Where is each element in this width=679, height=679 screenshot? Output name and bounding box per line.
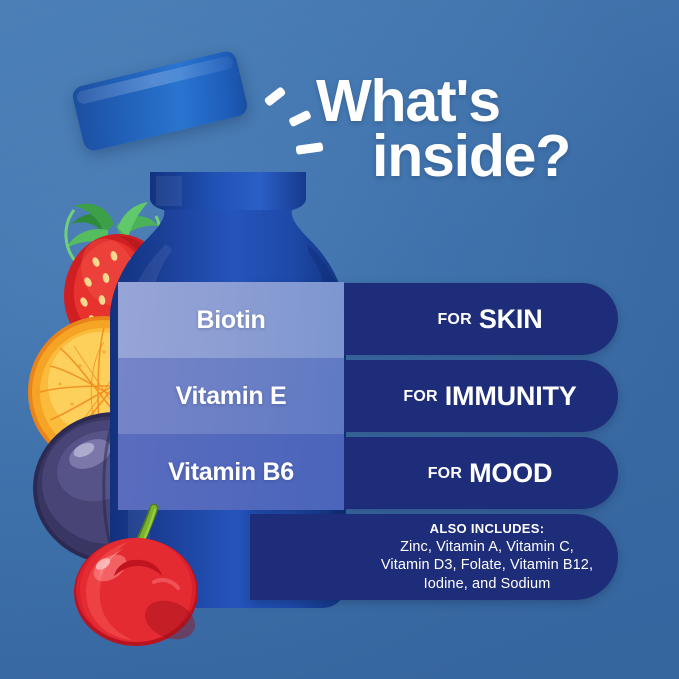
sparkle-dash-1-icon xyxy=(264,86,287,107)
also-includes-line-3: Iodine, and Sodium xyxy=(424,575,551,593)
benefit-pill-immunity-text: FOR IMMUNITY xyxy=(362,360,618,432)
benefit-value: IMMUNITY xyxy=(445,381,577,412)
also-includes-block: ALSO INCLUDES: Zinc, Vitamin A, Vitamin … xyxy=(362,514,612,600)
benefit-pill-skin-text: FOR SKIN xyxy=(362,283,618,355)
label-band-vitamin-e: Vitamin E xyxy=(118,358,344,434)
benefit-prefix: FOR xyxy=(428,465,462,483)
also-includes-heading: ALSO INCLUDES: xyxy=(430,521,545,536)
also-includes-line-1: Zinc, Vitamin A, Vitamin C, xyxy=(400,538,574,556)
ingredient-name: Biotin xyxy=(118,306,344,335)
benefit-value: MOOD xyxy=(469,458,552,489)
benefit-prefix: FOR xyxy=(437,311,471,329)
label-band-biotin: Biotin xyxy=(118,282,344,358)
benefit-pill-mood-text: FOR MOOD xyxy=(362,437,618,509)
also-includes-line-2: Vitamin D3, Folate, Vitamin B12, xyxy=(381,556,593,574)
cherry-icon xyxy=(58,470,238,650)
bottle-cap xyxy=(71,49,250,152)
ingredient-name: Vitamin E xyxy=(118,382,344,411)
sparkle-dash-2-icon xyxy=(288,110,312,128)
also-includes-pill: ALSO INCLUDES: Zinc, Vitamin A, Vitamin … xyxy=(250,514,618,600)
benefit-value: SKIN xyxy=(479,304,543,335)
benefit-prefix: FOR xyxy=(403,388,437,406)
whats-inside-infographic: What's inside? xyxy=(0,0,679,679)
